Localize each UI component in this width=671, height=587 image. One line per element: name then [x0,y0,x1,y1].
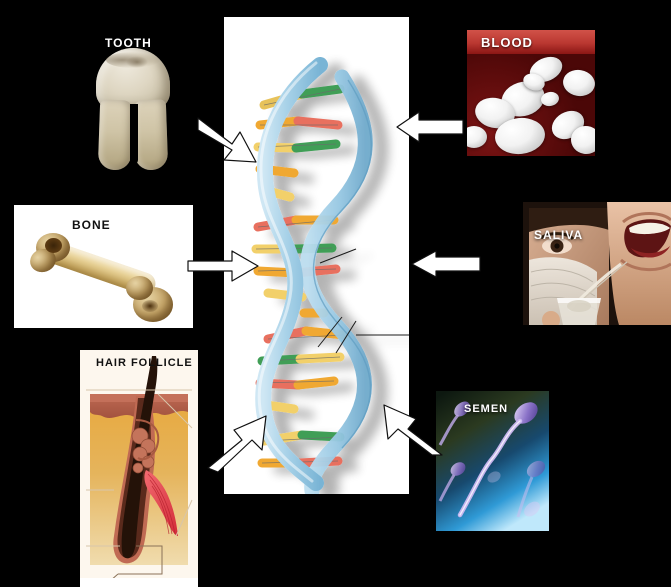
tooth-root-gap [130,104,138,164]
hair-follicle-image [80,350,198,587]
semen-image [436,391,549,531]
arrow-tooth-to-dna [196,104,272,172]
arrow-hair-follicle-to-dna [204,410,282,476]
tooth-graphic [96,48,170,170]
tooth-root-left [98,99,133,170]
arrow-bone-to-dna [186,249,260,283]
bone-distal-texture [142,300,158,312]
tooth-groove-secondary-icon [126,56,148,68]
arrow-blood-to-dna [395,110,465,144]
saliva-collection-illustration [523,202,671,325]
blood-image [467,30,595,156]
hair-follicle-illustration [80,350,198,587]
tooth-image [88,48,178,170]
tooth-root-right [133,99,168,170]
bone-image [14,205,193,328]
saliva-image [523,202,671,325]
bone-marrow-cavity [45,238,62,253]
sperm-cells-illustration [436,391,549,531]
blood-highlight-band [467,30,595,54]
bone-distal-head-secondary [126,276,153,300]
figure-canvas: TOOTH BONE [0,0,671,587]
arrow-semen-to-dna [366,393,446,461]
arrow-saliva-to-dna [410,249,482,279]
